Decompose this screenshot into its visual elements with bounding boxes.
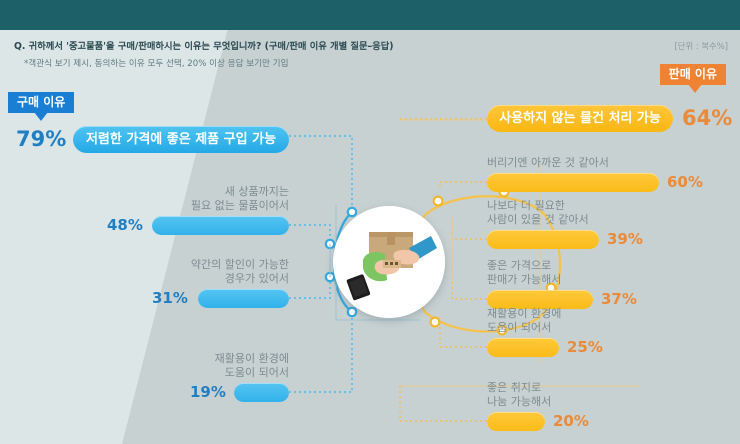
legend-badge-buy: 구매 이유 [8, 92, 74, 113]
legend-badge-sell-label: 판매 이유 [669, 67, 717, 81]
sell-label-4-line1: 재활용이 환경에 [487, 307, 561, 320]
buy-label-2-line1: 약간의 할인이 가능한 [191, 258, 289, 271]
buy-bar-1 [152, 216, 289, 235]
buy-label-2: 약간의 할인이 가능한 경우가 있어서 [191, 258, 289, 286]
buy-label-3-line2: 도움이 되어서 [225, 366, 289, 379]
buy-label-3: 재활용이 환경에 도움이 되어서 [215, 352, 289, 380]
survey-note: *객관식 보기 제시, 동의하는 이유 모두 선택, 20% 이상 응답 보기만… [24, 57, 288, 69]
sell-value-1: 60% [667, 173, 703, 192]
center-illustration [333, 206, 445, 318]
sell-bar-5 [487, 412, 545, 431]
buy-value-2: 31% [152, 289, 188, 308]
badge-tail-icon [34, 112, 48, 121]
buy-value-1: 48% [107, 216, 143, 235]
sell-label-2: 나보다 더 필요한 사람이 있을 것 같아서 [487, 199, 589, 227]
sell-label-5-line2: 나눔 가능해서 [487, 395, 551, 408]
sell-label-2-line1: 나보다 더 필요한 [487, 199, 565, 212]
secondhand-exchange-icon [333, 206, 445, 318]
sell-label-4: 재활용이 환경에 도움이 되어서 [487, 307, 561, 335]
legend-badge-sell: 판매 이유 [660, 64, 726, 85]
sell-bar-4 [487, 338, 559, 357]
sell-bar-1 [487, 173, 659, 192]
survey-question: Q. 귀하께서 '중고물품'을 구매/판매하시는 이유는 무엇입니까? (구매/… [14, 38, 394, 52]
buy-label-2-line2: 경우가 있어서 [225, 272, 289, 285]
legend-badge-buy-label: 구매 이유 [17, 95, 65, 109]
buy-value-3: 19% [190, 383, 226, 402]
buy-label-3-line1: 재활용이 환경에 [215, 352, 289, 365]
sell-label-5-line1: 좋은 취지로 [487, 381, 541, 394]
sell-label-3-line2: 판매가 가능해서 [487, 273, 561, 286]
header-bar [0, 0, 740, 30]
buy-bar-3 [234, 383, 289, 402]
sell-bar-0: 사용하지 않는 물건 처리 가능 [487, 105, 673, 132]
sell-value-5: 20% [553, 412, 589, 431]
sell-label-1: 버리기엔 아까운 것 같아서 [487, 156, 609, 170]
sell-label-3-line1: 좋은 가격으로 [487, 259, 551, 272]
sell-value-2: 39% [607, 230, 643, 249]
buy-label-1: 새 상품까지는 필요 없는 물품이어서 [191, 185, 289, 213]
sell-label-0: 사용하지 않는 물건 처리 가능 [487, 105, 673, 132]
sell-label-5: 좋은 취지로 나눔 가능해서 [487, 381, 551, 409]
buy-label-0: 저렴한 가격에 좋은 제품 구입 가능 [73, 126, 289, 153]
buy-label-1-line2: 필요 없는 물품이어서 [191, 199, 289, 212]
buy-bar-2 [198, 289, 289, 308]
sell-label-1-line1: 버리기엔 아까운 것 같아서 [487, 156, 609, 169]
sell-value-3: 37% [601, 290, 637, 309]
buy-bar-0: 저렴한 가격에 좋은 제품 구입 가능 [73, 126, 289, 153]
infographic-canvas: 중고물품 거래를 하는 이유 Q. 귀하께서 '중고물품'을 구매/판매하시는 … [0, 0, 740, 444]
sell-label-3: 좋은 가격으로 판매가 가능해서 [487, 259, 561, 287]
buy-label-1-line1: 새 상품까지는 [225, 185, 289, 198]
badge-tail-icon [688, 84, 702, 93]
unit-label: [단위 : 복수%] [675, 40, 728, 52]
sell-label-2-line2: 사람이 있을 것 같아서 [487, 213, 589, 226]
sell-bar-2 [487, 230, 599, 249]
sell-label-4-line2: 도움이 되어서 [487, 321, 551, 334]
sell-value-4: 25% [567, 338, 603, 357]
sell-value-0: 64% [682, 105, 732, 132]
buy-value-0: 79% [16, 126, 66, 153]
